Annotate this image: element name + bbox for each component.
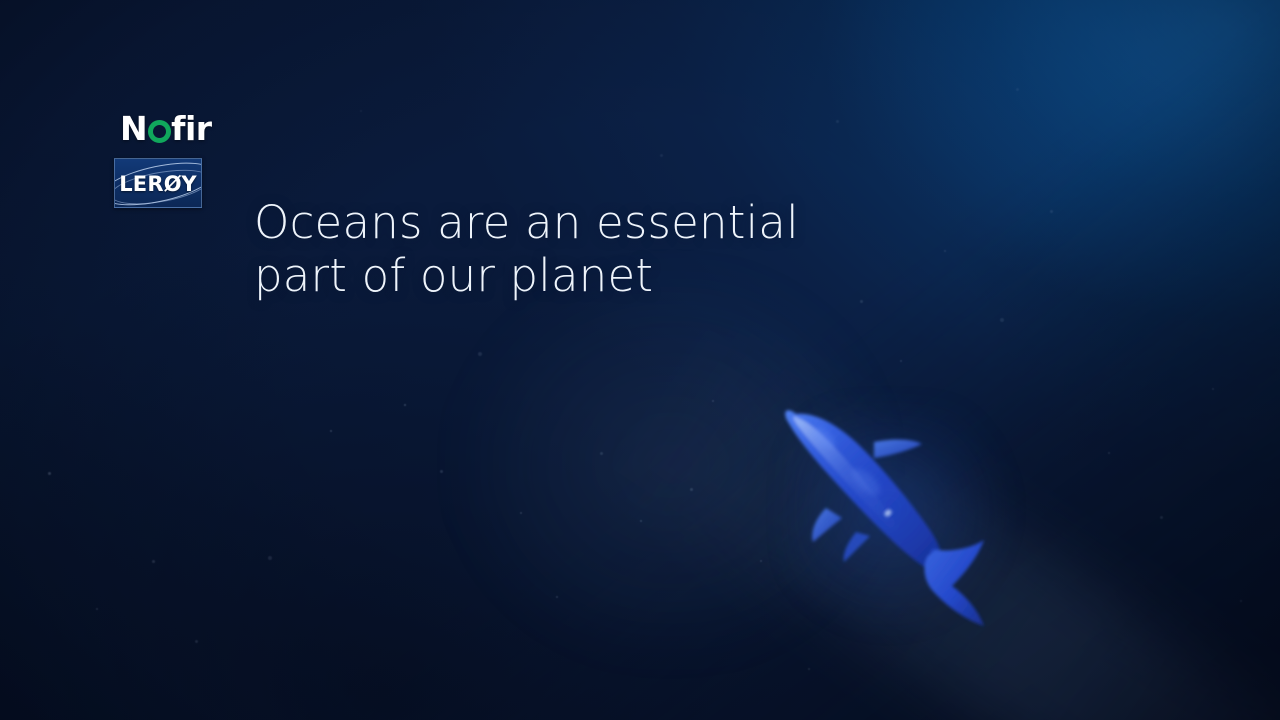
nofir-logo[interactable]: Nfir [114,110,234,150]
headline: Oceans are an essential part of our plan… [254,196,799,302]
leroy-logo-text: LERØY [115,172,201,196]
vignette [0,0,1280,720]
nofir-logo-text-after: fir [171,109,211,148]
nofir-logo-text-before: N [120,109,147,148]
logo-group: Nfir LERØY [114,110,234,150]
video-frame: Nfir LERØY Oceans are an essential part … [0,0,1280,720]
nofir-ring-icon [148,120,171,143]
headline-line-1: Oceans are an essential [254,196,799,249]
leroy-logo[interactable]: LERØY [114,158,202,208]
headline-line-2: part of our planet [254,249,799,302]
